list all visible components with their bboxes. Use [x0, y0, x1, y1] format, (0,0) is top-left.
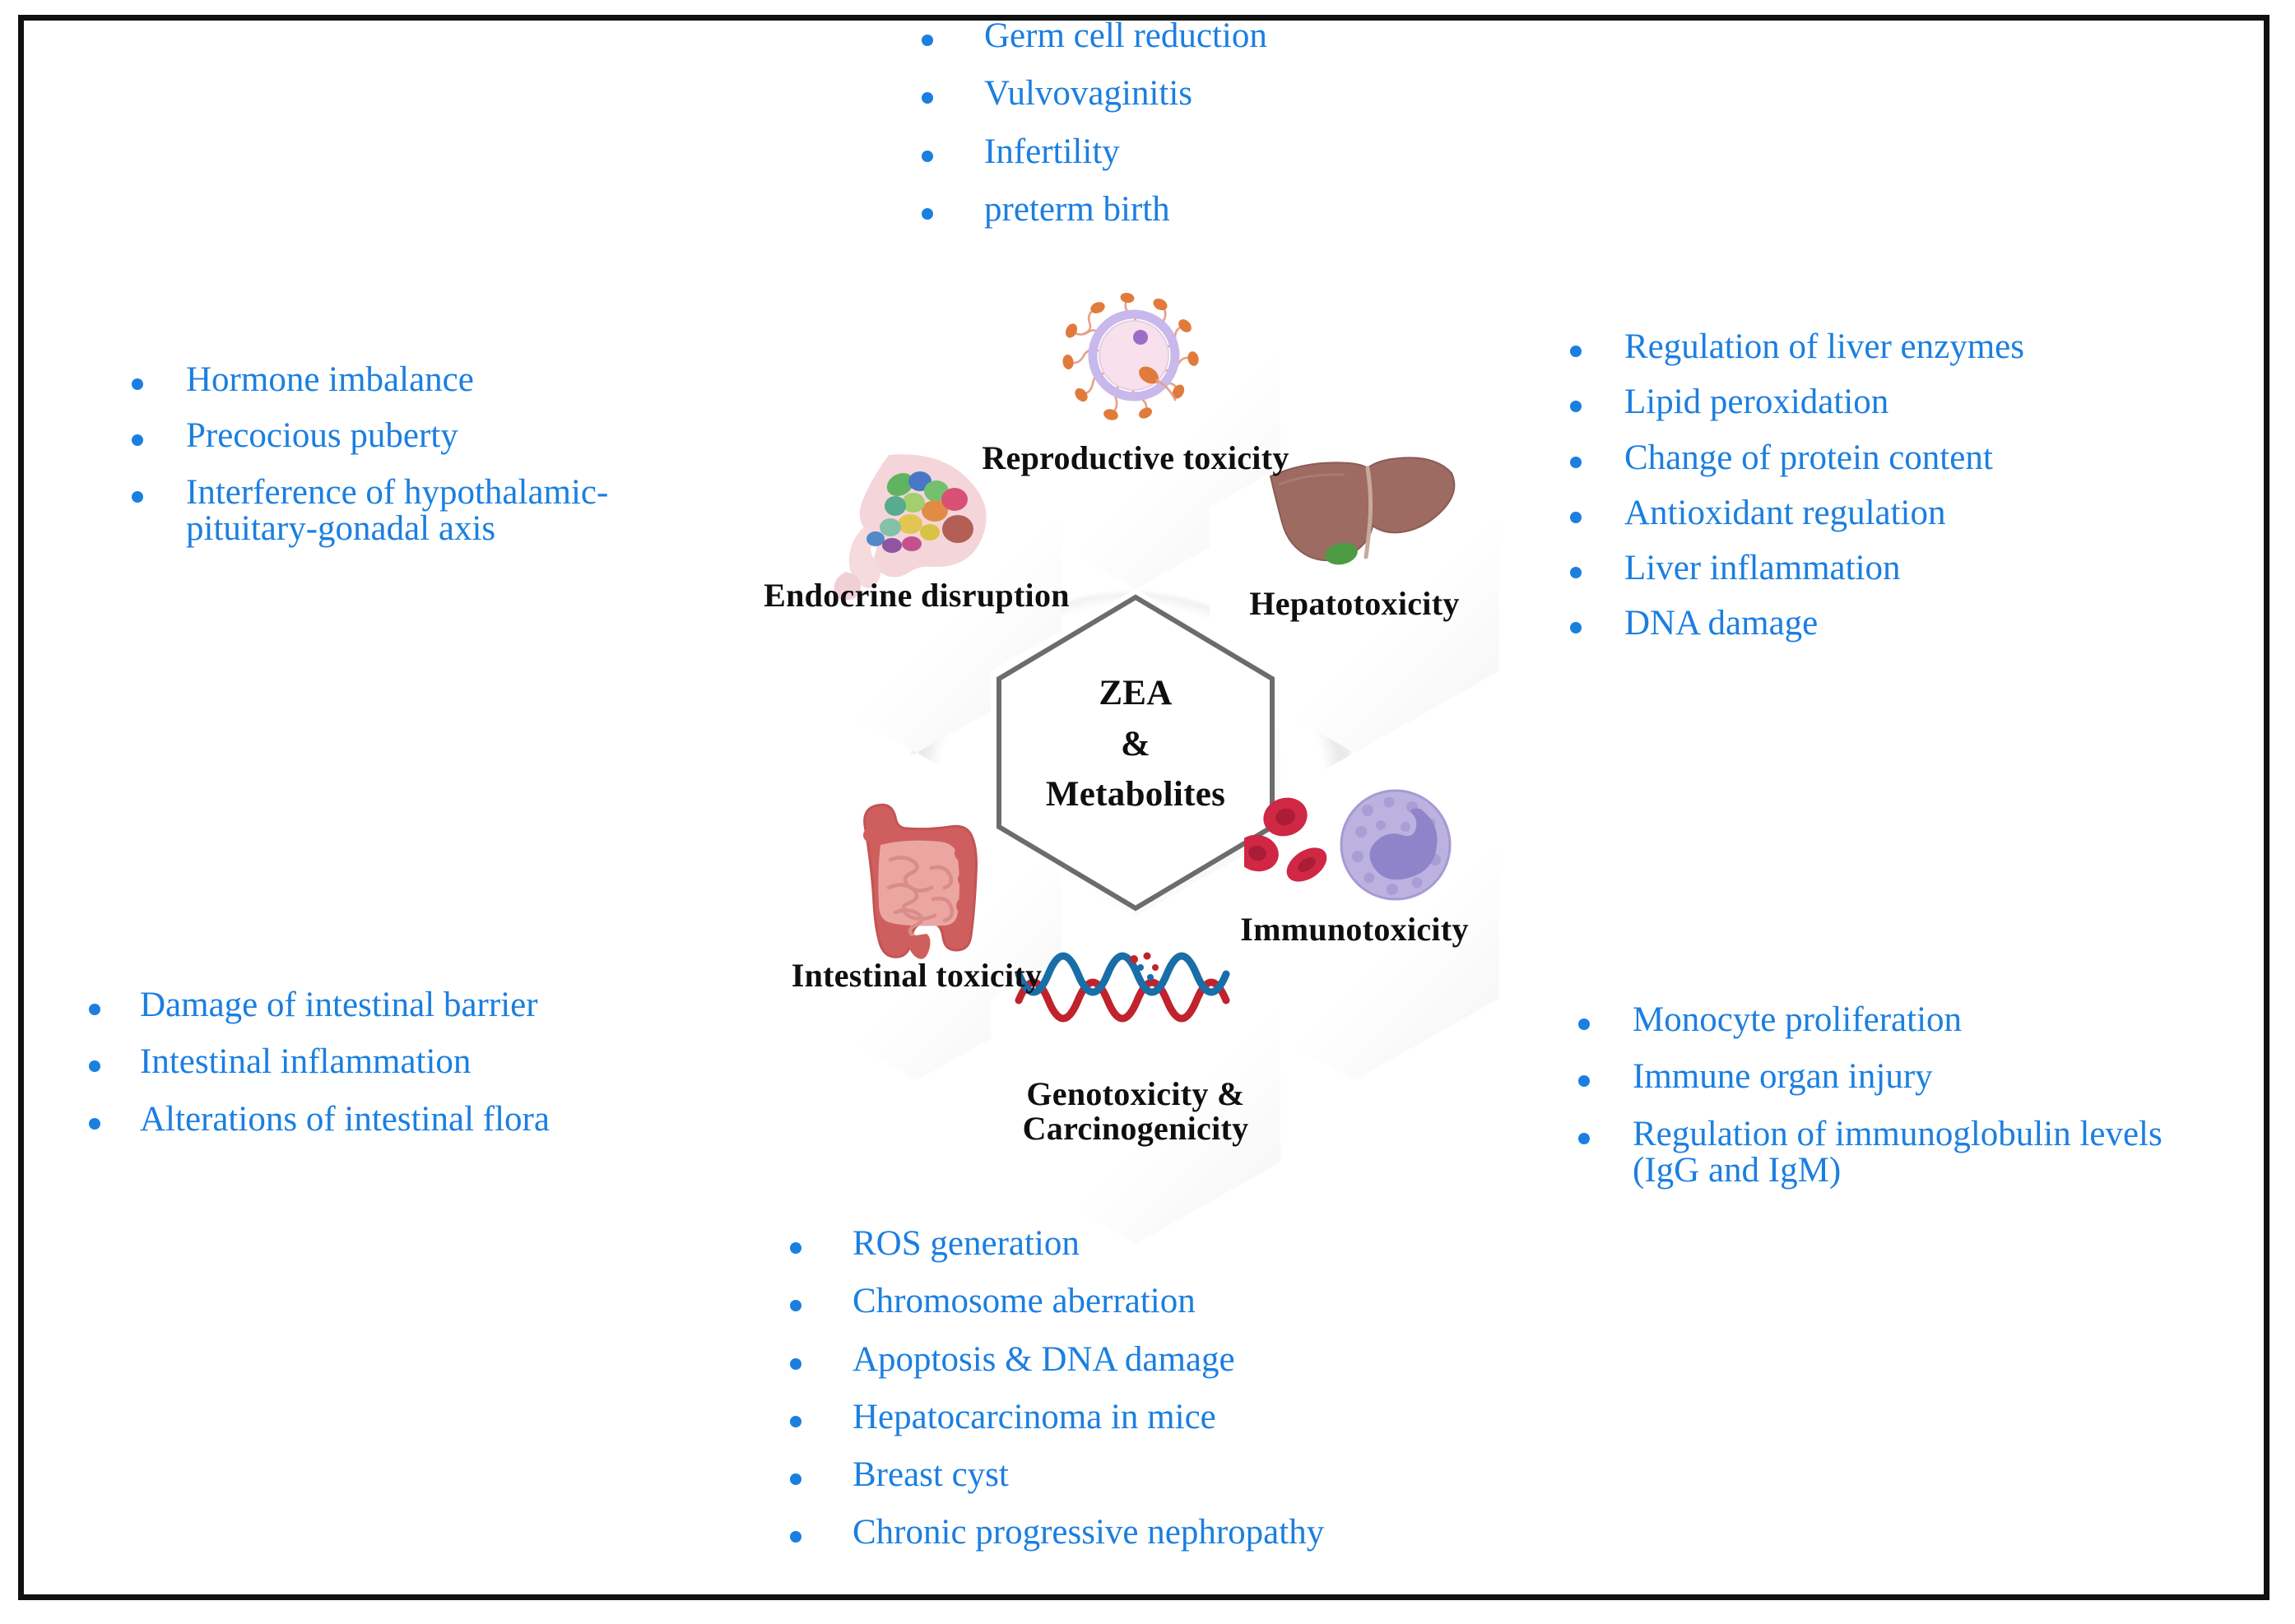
bullet-icon: [790, 1300, 801, 1311]
center-label: ZEA & Metabolites: [991, 675, 1280, 827]
bullet-icon: [89, 1004, 100, 1015]
list-item-text: Antioxidant regulation: [1624, 495, 1946, 531]
list-item-text: Liver inflammation: [1624, 550, 1901, 587]
bullet-icon: [132, 378, 143, 390]
list-item-text: Chronic progressive nephropathy: [852, 1515, 1324, 1551]
list-item: Chronic progressive nephropathy: [790, 1515, 1531, 1551]
list-item: Regulation of immunoglobulin levels (IgG…: [1578, 1116, 2228, 1190]
list-item: Breast cyst: [790, 1457, 1531, 1493]
list-item: Germ cell reduction: [922, 18, 1547, 54]
zea-toxicity-figure: Germ cell reductionVulvovaginitisInferti…: [0, 0, 2295, 1624]
list-item-text: Change of protein content: [1624, 440, 1993, 476]
list-item: Regulation of liver enzymes: [1570, 329, 2245, 365]
list-item: Chromosome aberration: [790, 1283, 1531, 1320]
list-item-text: Hepatocarcinoma in mice: [852, 1399, 1216, 1436]
list-item-text: Intestinal inflammation: [140, 1044, 471, 1080]
bullet-icon: [132, 491, 143, 503]
list-item-text: preterm birth: [984, 192, 1170, 228]
bullet-icon: [790, 1416, 801, 1427]
list-item: Monocyte proliferation: [1578, 1002, 2228, 1038]
intestine-icon: [829, 792, 1002, 965]
list-item-text: Germ cell reduction: [984, 18, 1267, 54]
list-item: Liver inflammation: [1570, 550, 2245, 587]
list-item-text: Alterations of intestinal flora: [140, 1102, 550, 1138]
bullet-icon: [922, 92, 933, 104]
list-item: Apoptosis & DNA damage: [790, 1342, 1531, 1378]
hexagon-cluster: Reproductive toxicity: [642, 247, 1629, 1259]
list-item: Infertility: [922, 134, 1547, 170]
list-item-text: Infertility: [984, 134, 1120, 170]
list-item: Vulvovaginitis: [922, 76, 1547, 112]
list-item: preterm birth: [922, 192, 1547, 228]
hex-label: Immunotoxicity: [1155, 912, 1554, 947]
hex-label: Reproductive toxicity: [956, 441, 1315, 476]
list-item-text: DNA damage: [1624, 606, 1818, 642]
list-item: Antioxidant regulation: [1570, 495, 2245, 531]
genotoxicity-list: ROS generationChromosome aberrationApopt…: [790, 1226, 1531, 1573]
hex-center-zea-metabolites[interactable]: ZEA & Metabolites: [991, 589, 1280, 916]
bullet-icon: [790, 1358, 801, 1370]
list-item: Change of protein content: [1570, 440, 2245, 476]
reproductive-toxicity-list: Germ cell reductionVulvovaginitisInferti…: [922, 18, 1547, 249]
ovum-sperm-icon: [1048, 290, 1223, 436]
list-item-text: Interference of hypothalamic-pituitary-g…: [186, 475, 658, 548]
list-item: Precocious puberty: [132, 418, 658, 454]
list-item-text: Lipid peroxidation: [1624, 384, 1888, 420]
list-item: Hepatocarcinoma in mice: [790, 1399, 1531, 1436]
list-item: Lipid peroxidation: [1570, 384, 2245, 420]
immunotoxicity-list: Monocyte proliferationImmune organ injur…: [1578, 1002, 2228, 1209]
hepatotoxicity-list: Regulation of liver enzymesLipid peroxid…: [1570, 329, 2245, 661]
list-item-text: Monocyte proliferation: [1633, 1002, 1962, 1038]
list-item: DNA damage: [1570, 606, 2245, 642]
bullet-icon: [790, 1473, 801, 1485]
list-item-text: Regulation of immunoglobulin levels (IgG…: [1633, 1116, 2228, 1190]
hex-label: Intestinal toxicity: [737, 958, 1096, 993]
hex-label: Genotoxicity & Carcinogenicity: [915, 1077, 1356, 1147]
bullet-icon: [790, 1531, 801, 1543]
monocyte: [1341, 791, 1450, 899]
list-item: Interference of hypothalamic-pituitary-g…: [132, 475, 658, 548]
list-item-text: Immune organ injury: [1633, 1059, 1933, 1095]
list-item-text: Chromosome aberration: [852, 1283, 1196, 1320]
bullet-icon: [89, 1060, 100, 1072]
list-item-text: Vulvovaginitis: [984, 76, 1192, 112]
list-item: Immune organ injury: [1578, 1059, 2228, 1095]
bullet-icon: [922, 151, 933, 162]
list-item-text: Breast cyst: [852, 1457, 1009, 1493]
bullet-icon: [132, 434, 143, 446]
hex-label: Hepatotoxicity: [1160, 587, 1549, 621]
bullet-icon: [922, 35, 933, 46]
hex-label: Endocrine disruption: [737, 578, 1096, 613]
list-item-text: Hormone imbalance: [186, 362, 474, 398]
bullet-icon: [89, 1118, 100, 1130]
list-item-text: Damage of intestinal barrier: [140, 987, 538, 1023]
list-item: Hormone imbalance: [132, 362, 658, 398]
list-item-text: Apoptosis & DNA damage: [852, 1342, 1235, 1378]
list-item-text: Regulation of liver enzymes: [1624, 329, 2024, 365]
list-item-text: Precocious puberty: [186, 418, 458, 454]
endocrine-disruption-list: Hormone imbalancePrecocious pubertyInter…: [132, 362, 658, 567]
bullet-icon: [922, 208, 933, 220]
